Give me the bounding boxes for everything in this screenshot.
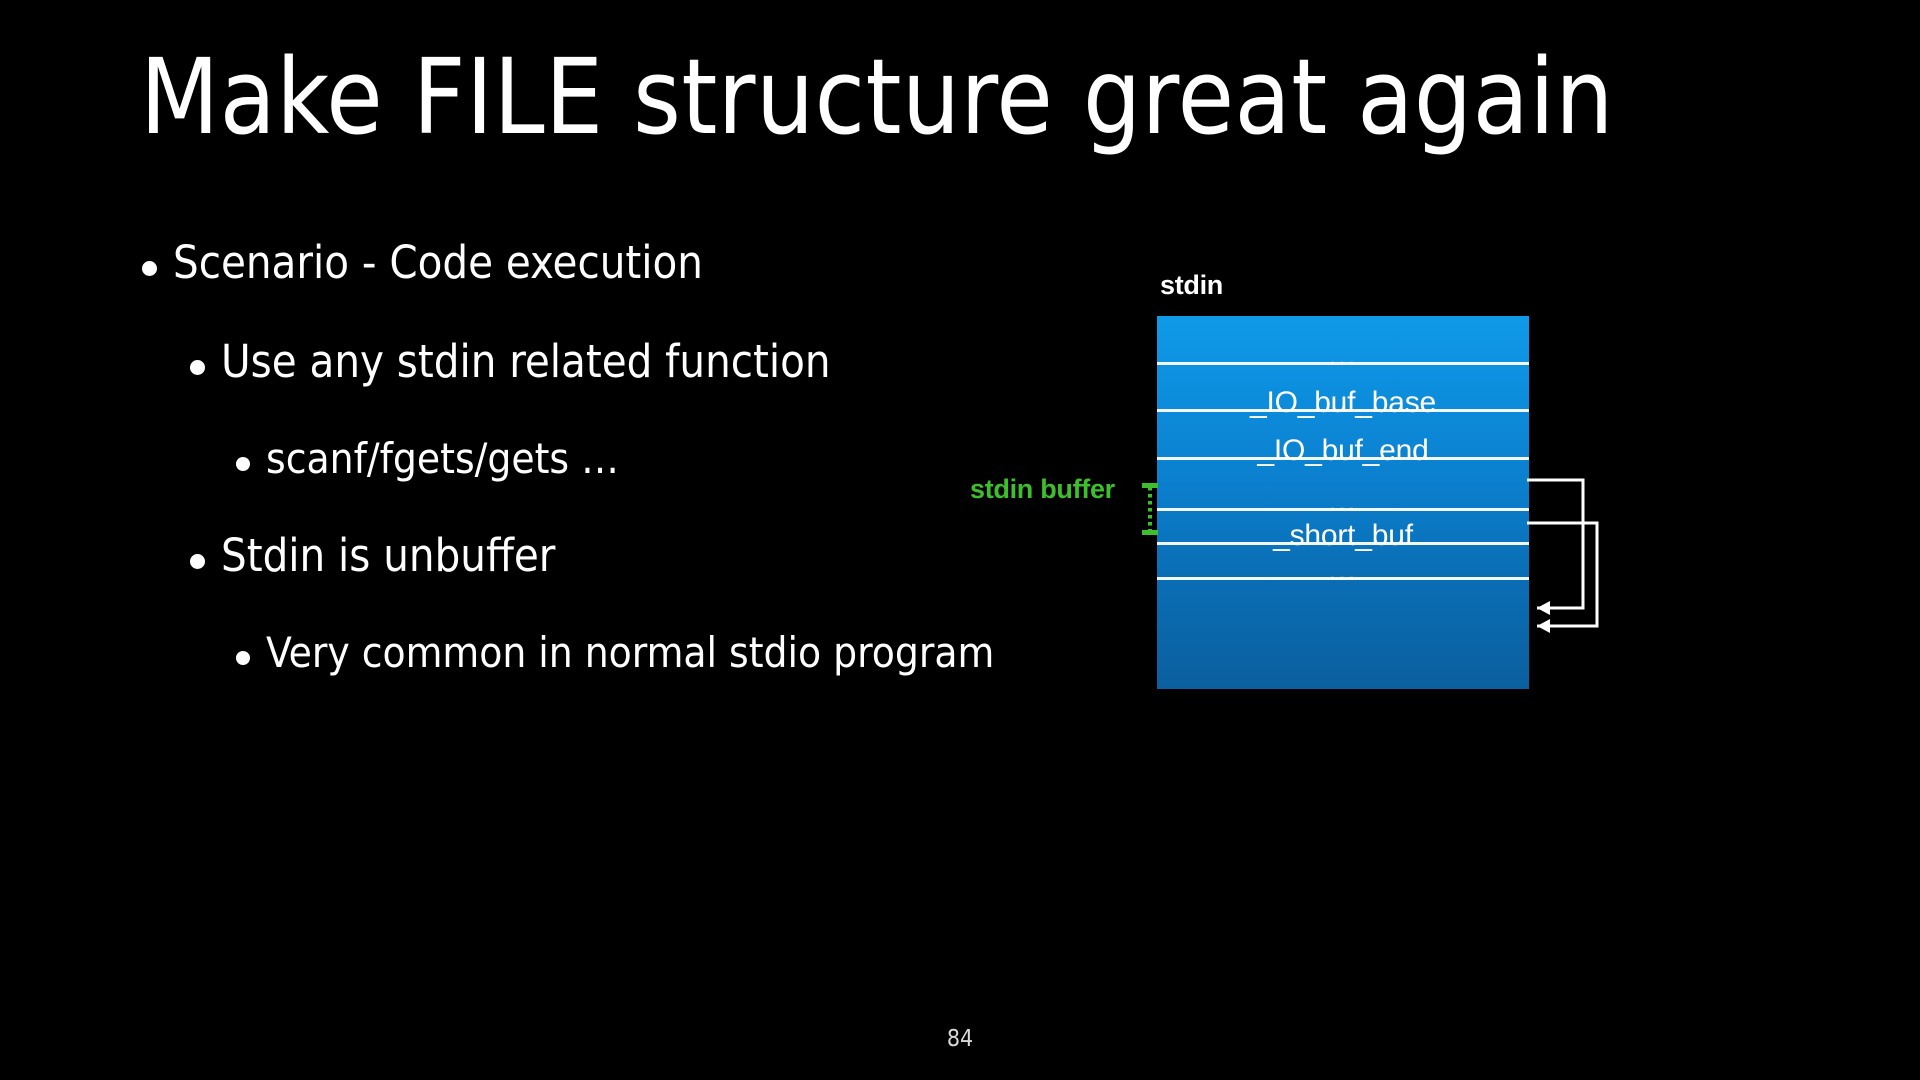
bullet-dot-icon <box>236 651 250 665</box>
list-item: Stdin is unbuffer <box>0 529 1150 582</box>
arrowhead-io-buf-base <box>1537 601 1550 615</box>
list-item: Scenario - Code execution <box>0 236 1150 289</box>
connector-io-buf-base <box>1527 480 1583 608</box>
table-row <box>1157 580 1529 686</box>
list-item: Very common in normal stdio program <box>0 628 1150 677</box>
table-row: … <box>1157 316 1529 365</box>
page-number: 84 <box>0 1026 1920 1052</box>
table-row: _IO_buf_base <box>1157 365 1529 412</box>
buffer-range-bracket-icon <box>1142 483 1158 535</box>
slide-root: Make FILE structure great again Scenario… <box>0 0 1920 1080</box>
bullet-dot-icon <box>236 457 250 471</box>
pointer-connectors <box>1525 255 1645 725</box>
bracket-cap-bottom <box>1142 530 1158 535</box>
table-row: … <box>1157 460 1529 511</box>
bullet-dot-icon <box>142 261 157 276</box>
list-item-label: Stdin is unbuffer <box>221 529 555 582</box>
bracket-stem <box>1148 487 1152 531</box>
list-item-label: Very common in normal stdio program <box>266 628 994 677</box>
list-item: Use any stdin related function <box>0 335 1150 388</box>
stdin-struct-diagram: stdin … _IO_buf_base _IO_buf_end … _shor… <box>1130 255 1920 725</box>
connector-arrows-icon <box>1525 255 1645 725</box>
list-item-label: Use any stdin related function <box>221 335 831 388</box>
table-row: … <box>1157 545 1529 580</box>
connector-io-buf-end <box>1527 523 1597 626</box>
list-item-label: Scenario - Code execution <box>173 236 703 289</box>
bullet-dot-icon <box>190 554 205 569</box>
struct-title-label: stdin <box>1160 270 1223 301</box>
table-row: _IO_buf_end <box>1157 412 1529 460</box>
file-struct-table: … _IO_buf_base _IO_buf_end … _short_buf … <box>1157 316 1529 689</box>
table-row: _short_buf <box>1157 511 1529 545</box>
stdin-buffer-label: stdin buffer <box>970 474 1115 505</box>
arrowhead-io-buf-end <box>1537 619 1550 633</box>
bullet-dot-icon <box>190 360 205 375</box>
page-title: Make FILE structure great again <box>140 36 1786 159</box>
list-item-label: scanf/fgets/gets … <box>266 434 619 483</box>
